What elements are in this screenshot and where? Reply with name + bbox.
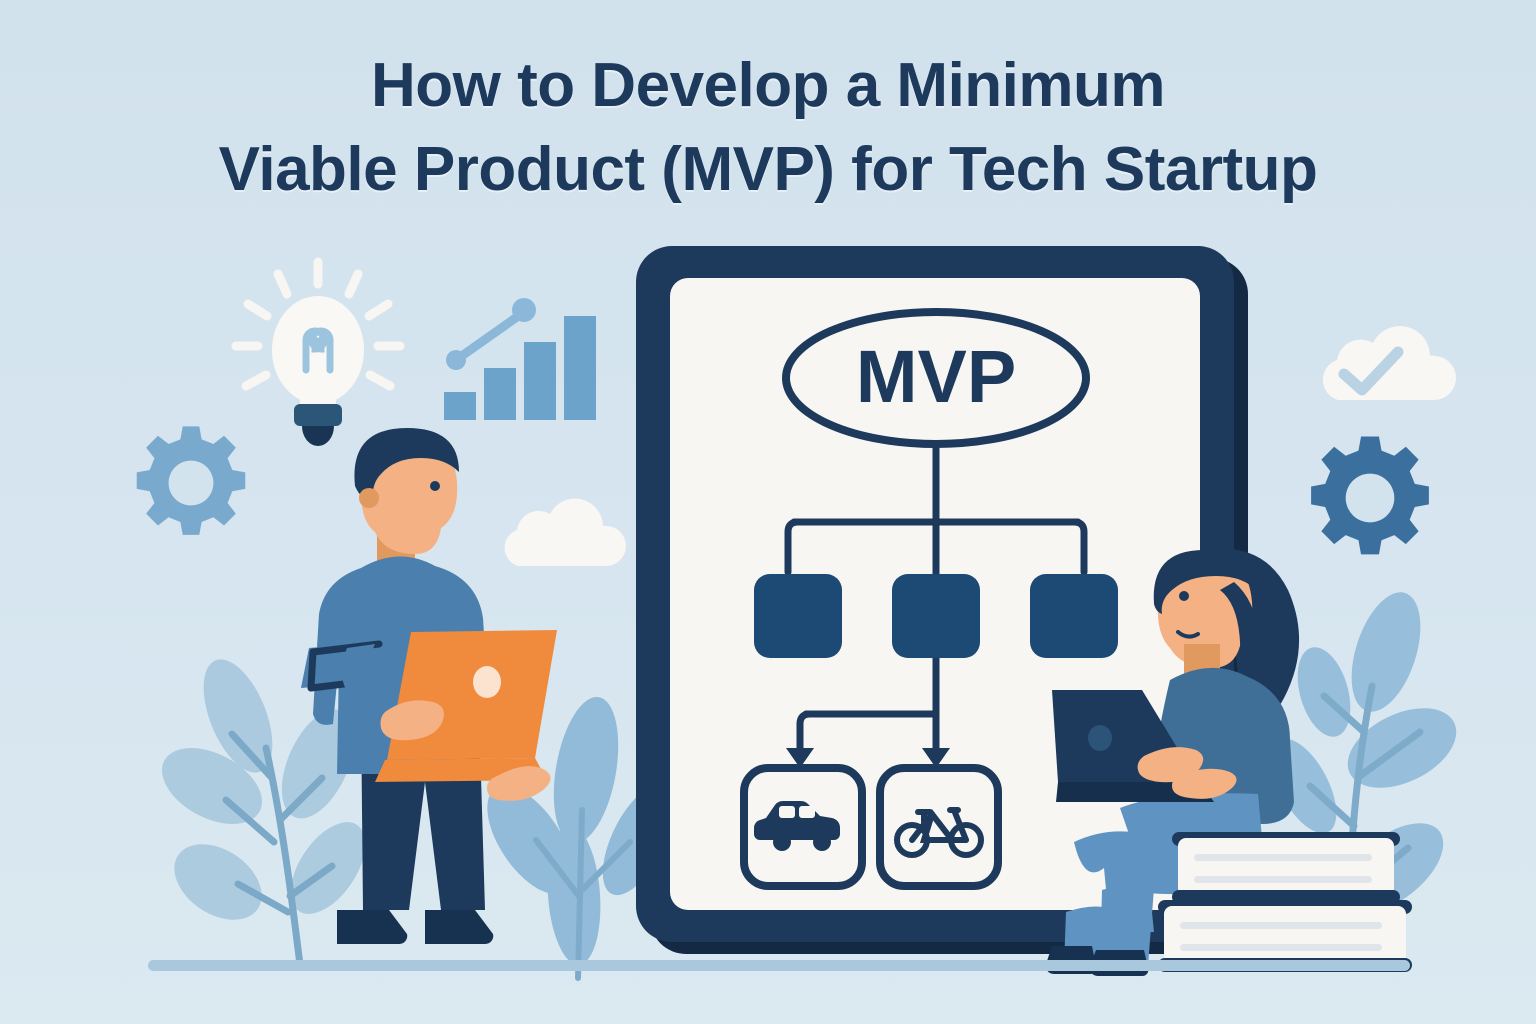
cloud-check-icon: [1294, 312, 1458, 406]
ground-line: [148, 960, 1410, 971]
bar-chart-icon: [442, 290, 597, 420]
person-standing-with-laptop: [265, 420, 595, 970]
diagram-node-1: [754, 574, 842, 658]
page-title: How to Develop a Minimum Viable Product …: [0, 44, 1536, 212]
diagram-node-2: [892, 574, 980, 658]
title-line-2: Viable Product (MVP) for Tech Startup: [0, 128, 1536, 212]
diagram-root-label: MVP: [856, 335, 1016, 418]
gear-icon: [132, 424, 250, 542]
book-stack: [1158, 826, 1448, 976]
illustration-canvas: How to Develop a Minimum Viable Product …: [0, 0, 1536, 1024]
lightbulb-icon: [228, 258, 408, 438]
title-line-1: How to Develop a Minimum: [0, 44, 1536, 128]
